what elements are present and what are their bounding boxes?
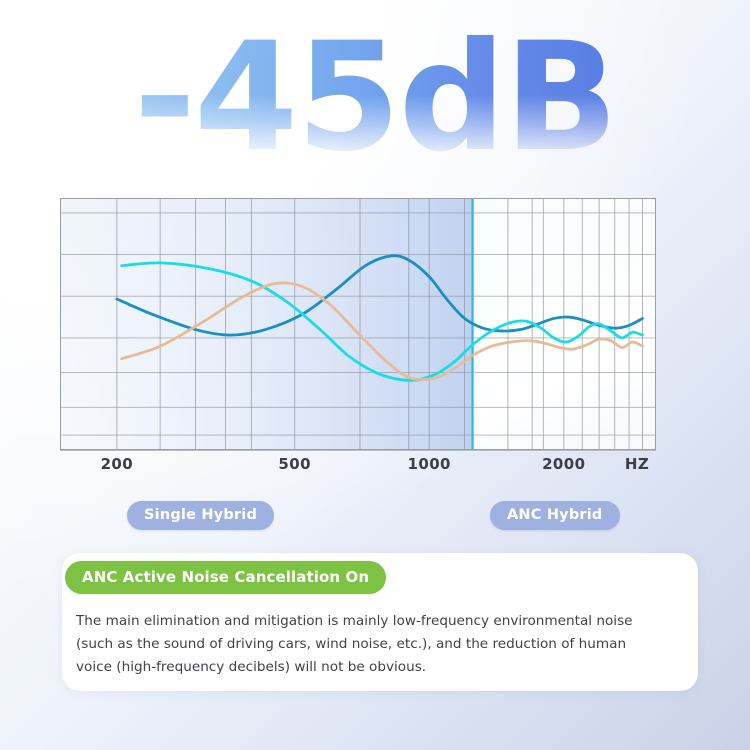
x-tick-500: 500 — [278, 455, 311, 473]
legend-single-hybrid[interactable]: Single Hybrid — [127, 501, 274, 530]
page-title: -45dB — [0, 22, 750, 174]
x-axis-unit-label: HZ — [625, 455, 649, 473]
status-badge: ANC Active Noise Cancellation On — [65, 561, 386, 594]
x-tick-200: 200 — [101, 455, 134, 473]
anc-description: The main elimination and mitigation is m… — [76, 610, 664, 679]
legend-anc-hybrid[interactable]: ANC Hybrid — [490, 501, 620, 530]
x-tick-1000: 1000 — [408, 455, 451, 473]
x-axis-line — [60, 450, 656, 451]
headline-container: -45dB — [0, 22, 750, 174]
anc-band — [61, 199, 473, 449]
x-tick-2000: 2000 — [542, 455, 585, 473]
chart-plot-area — [61, 199, 655, 449]
anc-infographic: -45dB 20050010002000HZ Single Hybrid ANC… — [0, 0, 750, 750]
frequency-response-chart — [60, 198, 656, 450]
